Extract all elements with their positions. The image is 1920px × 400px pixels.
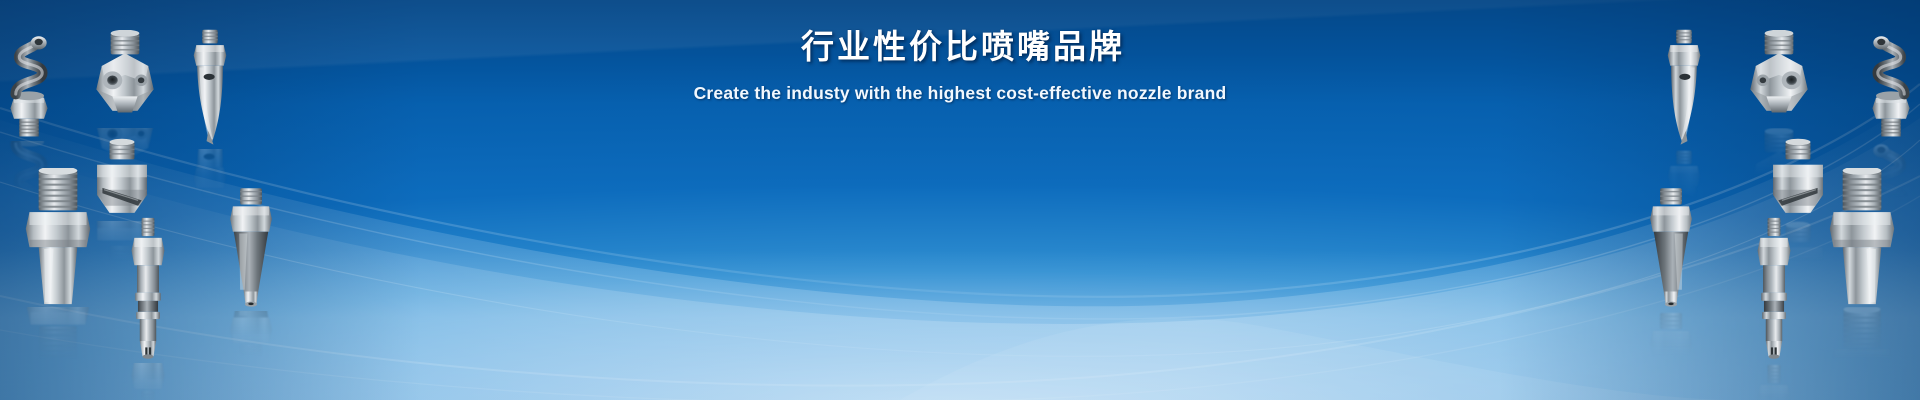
product-hex-body-nozzle-left: [22, 168, 94, 367]
product-cone-nozzle-right: [1642, 186, 1700, 363]
hero-banner: 行业性价比喷嘴品牌 Create the industy with the hi…: [0, 0, 1920, 400]
product-cone-nozzle-left: [222, 186, 280, 363]
product-needle-nozzle-left: [126, 216, 170, 400]
banner-headline: 行业性价比喷嘴品牌: [0, 26, 1920, 67]
product-needle-nozzle-right: [1752, 216, 1796, 400]
banner-copy: 行业性价比喷嘴品牌 Create the industy with the hi…: [0, 26, 1920, 104]
product-hex-body-nozzle-right: [1826, 168, 1898, 367]
banner-subline: Create the industy with the highest cost…: [0, 83, 1920, 104]
